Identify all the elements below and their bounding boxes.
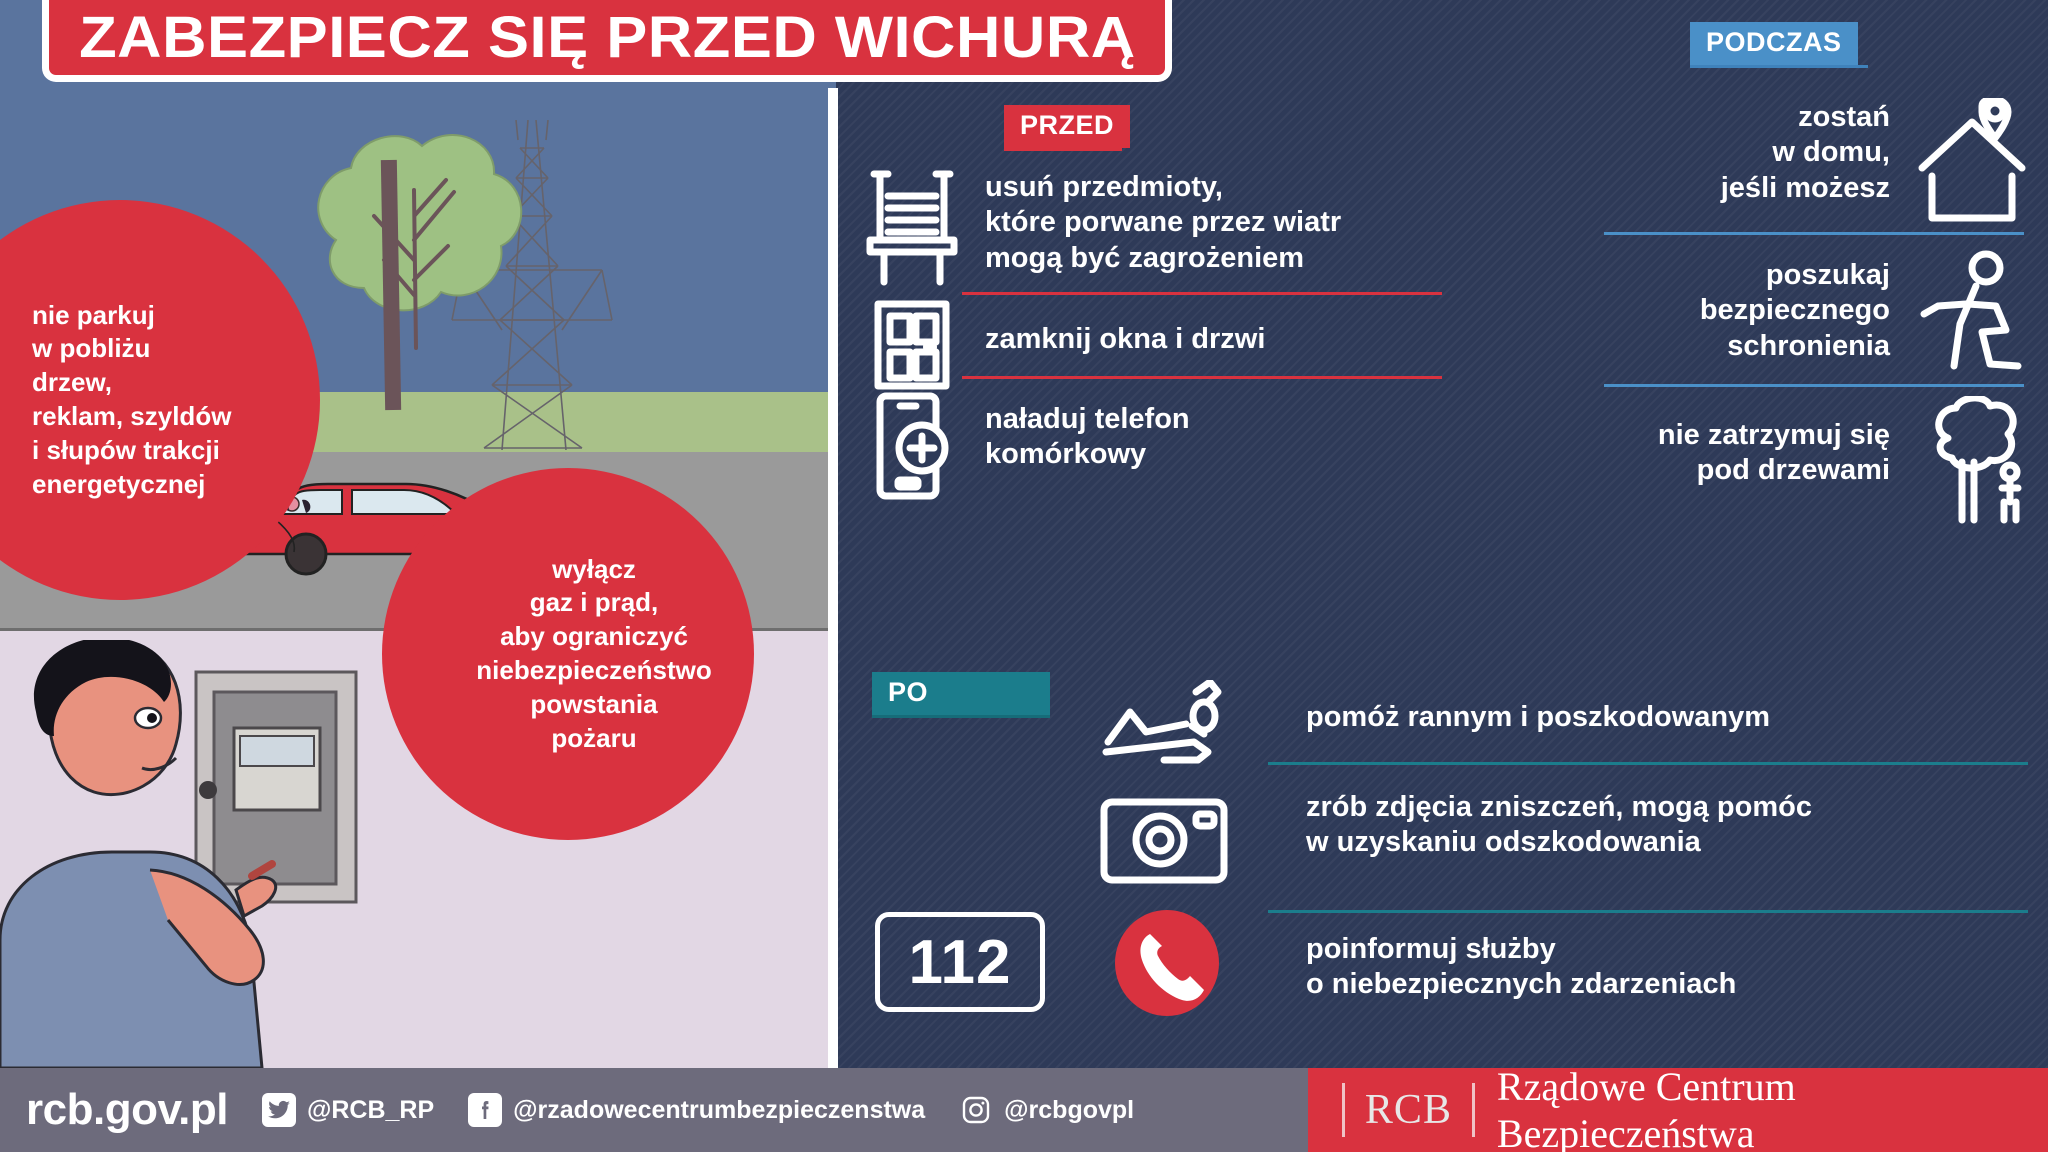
rcb-logo-bar: RCB Rządowe Centrum Bezpieczeństwa [1308,1068,2048,1152]
callout-turn-off-gas-text: wyłącz gaz i prąd, aby ograniczyć niebez… [403,553,733,756]
po-item-1-text: pomóż rannym i poszkodowanym [1306,700,1966,735]
title-banner: ZABEZPIECZ SIĘ PRZED WICHURĄ [42,0,1172,82]
door-icon [872,300,952,390]
camera-icon [1098,788,1230,888]
tree-icon [296,120,536,350]
podczas-item-1-text: zostań w domu, jeśli możesz [1600,100,1890,206]
podczas-divider-2 [1604,384,2024,387]
instagram-icon [959,1093,993,1127]
website-link[interactable]: rcb.gov.pl [26,1085,228,1135]
po-divider-1 [1268,762,2028,765]
callout-turn-off-gas: wyłącz gaz i prąd, aby ograniczyć niebez… [382,468,754,840]
mobile-phone-charge-icon [874,392,954,502]
podczas-item-2-text: poszukaj bezpiecznego schronienia [1570,258,1890,364]
panel-divider [828,88,838,1068]
page-title: ZABEZPIECZ SIĘ PRZED WICHURĄ [79,4,1136,71]
badge-przed: PRZED [1004,105,1130,148]
facebook-handle: @rzadowecentrumbezpieczenstwa [513,1096,925,1125]
twitter-icon [262,1093,296,1127]
callout-no-parking-text: nie parkuj w pobliżu drzew, reklam, szyl… [0,299,270,502]
przed-divider-1 [962,292,1442,295]
rcb-abbreviation: RCB [1345,1086,1472,1134]
emergency-phone-icon [1112,908,1222,1018]
po-divider-2 [1268,910,2028,913]
infographic-root: nie parkuj w pobliżu drzew, reklam, szyl… [0,0,2048,1152]
badge-po-underline [872,715,1050,718]
emergency-number-badge: 112 [875,912,1045,1012]
social-facebook[interactable]: @rzadowecentrumbezpieczenstwa [468,1093,925,1127]
chair-icon [866,168,958,286]
przed-item-2-text: zamknij okna i drzwi [985,322,1455,357]
facebook-icon [468,1093,502,1127]
instagram-handle: @rcbgovpl [1004,1096,1134,1125]
badge-podczas-underline [1690,65,1868,68]
running-person-icon [1920,248,2030,378]
przed-item-3-text: naładuj telefon komórkowy [985,402,1455,473]
tree-person-icon [1930,396,2036,524]
przed-item-1-text: usuń przedmioty, które porwane przez wia… [985,170,1455,276]
social-instagram[interactable]: @rcbgovpl [959,1093,1134,1127]
badge-podczas: PODCZAS [1690,22,1858,65]
twitter-handle: @RCB_RP [307,1096,434,1125]
emergency-number-text: 112 [908,927,1011,998]
badge-przed-underline [1004,148,1122,151]
podczas-divider-1 [1604,232,2024,235]
house-pin-icon [1916,98,2028,228]
przed-divider-2 [962,376,1442,379]
badge-po: PO [872,672,1050,715]
podczas-item-3-text: nie zatrzymuj się pod drzewami [1560,418,1890,489]
social-twitter[interactable]: @RCB_RP [262,1093,434,1127]
po-item-3-text: poinformuj służby o niebezpiecznych zdar… [1306,932,2006,1003]
rcb-organization-name: Rządowe Centrum Bezpieczeństwa [1475,1063,2048,1152]
illustration-panel: nie parkuj w pobliżu drzew, reklam, szyl… [0,0,836,1068]
injured-person-icon [1100,680,1230,770]
po-item-2-text: zrób zdjęcia zniszczeń, mogą pomóc w uzy… [1306,790,2006,861]
